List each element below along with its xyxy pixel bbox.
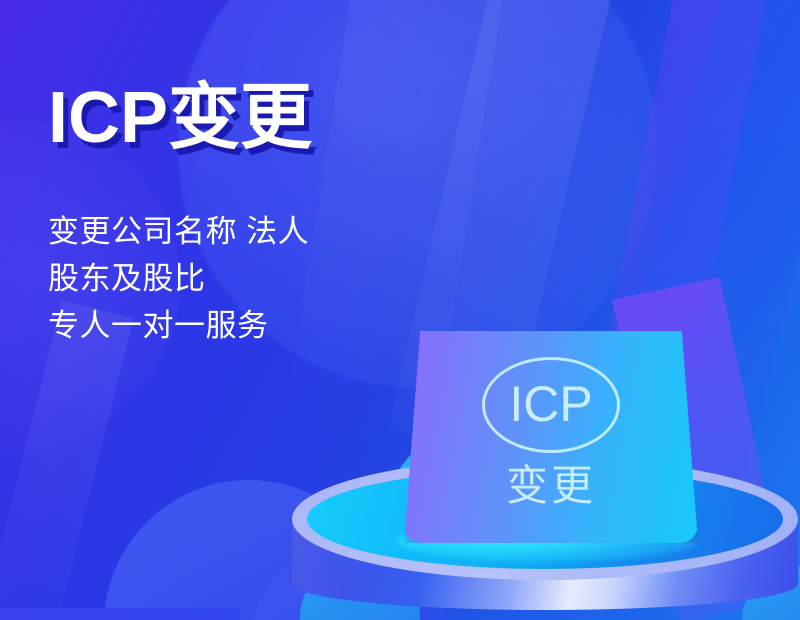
- subtitle-line-2: 股东及股比: [48, 255, 309, 302]
- subtitle-line-1: 变更公司名称 法人: [48, 208, 309, 255]
- icp-card-label: 变更: [506, 465, 596, 507]
- icp-badge-text: ICP: [509, 379, 592, 429]
- icp-badge-ellipse-icon: ICP: [482, 357, 620, 453]
- subtitle-block: 变更公司名称 法人 股东及股比 专人一对一服务: [48, 208, 309, 349]
- background-strip-bottom-left: [0, 608, 240, 620]
- subtitle-line-3: 专人一对一服务: [48, 302, 309, 349]
- promo-banner: ICP变更 变更公司名称 法人 股东及股比 专人一对一服务 ICP 变更: [0, 0, 800, 620]
- icp-card-content: ICP 变更: [404, 331, 698, 543]
- headline-block: ICP变更: [48, 82, 312, 154]
- page-title: ICP变更: [48, 82, 312, 154]
- icp-card[interactable]: ICP 变更: [404, 331, 698, 543]
